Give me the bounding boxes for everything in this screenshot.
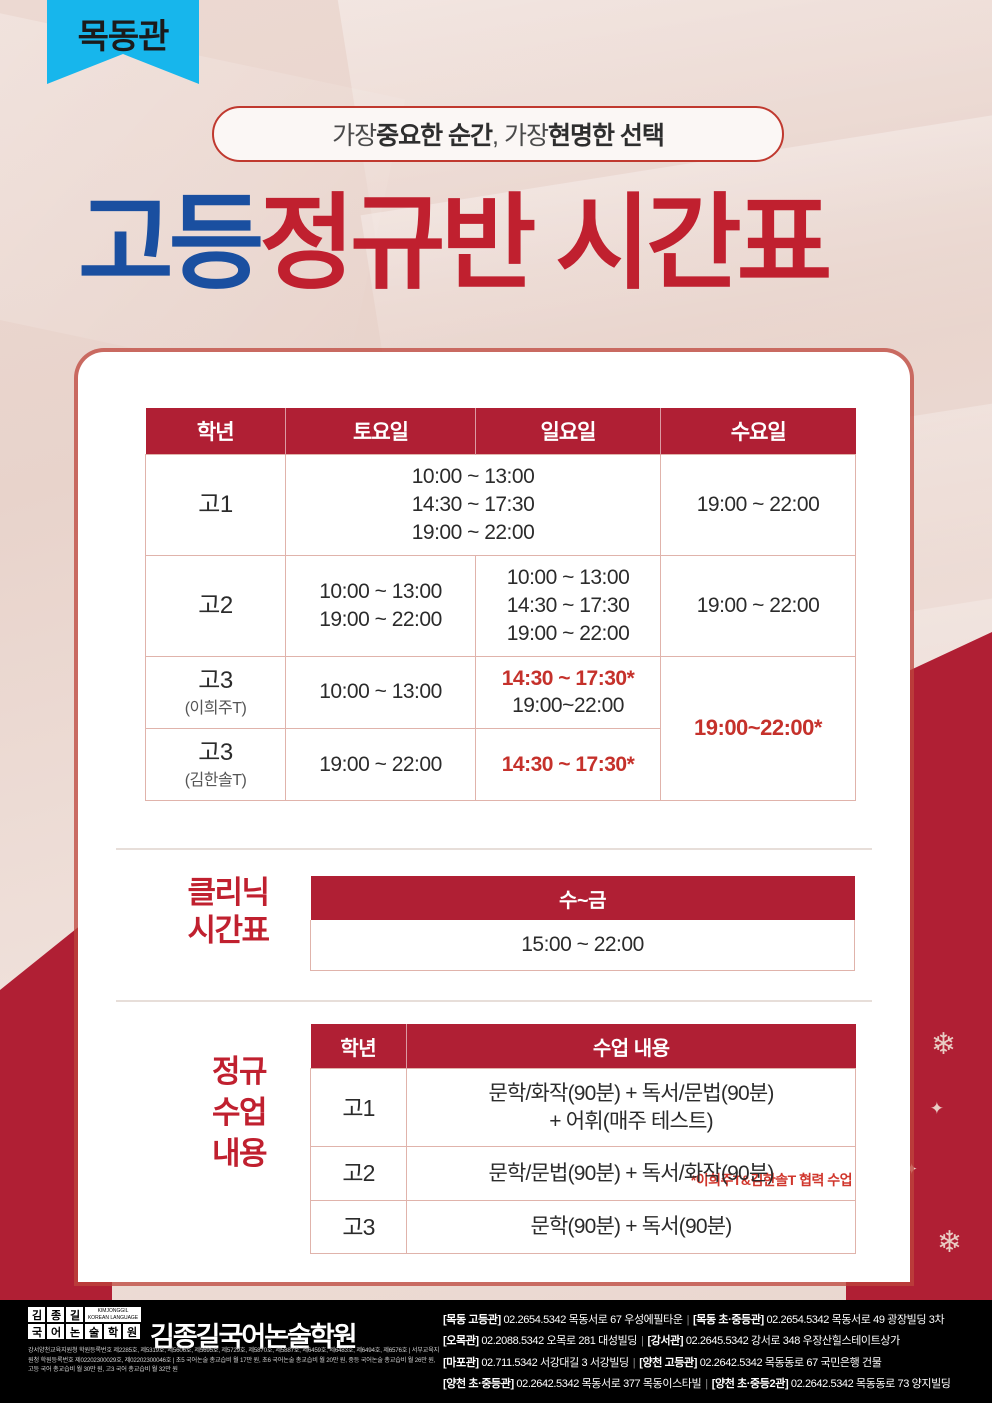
footer-contact-line: [마포관] 02.711.5342 서강대길 3 서강빌딩|[양천 고등관] 0… bbox=[443, 1353, 983, 1374]
cell-grade-go3-leeheeju: 고3 (이희주T) bbox=[146, 656, 286, 729]
footer-contact-separator: | bbox=[629, 1357, 639, 1369]
logo-mark-row-top: 김 종 길 KIMJONGGILKOREAN LANGUAGE bbox=[28, 1307, 141, 1322]
branch-ribbon-tag: 목동관 bbox=[47, 0, 199, 84]
curriculum-col-header-grade: 학년 bbox=[311, 1024, 407, 1069]
table-row: 고2 10:00 ~ 13:0019:00 ~ 22:00 10:00 ~ 13… bbox=[146, 555, 856, 656]
footer-branch-phone[interactable]: 02.2642.5342 bbox=[700, 1357, 765, 1369]
footer-branch-name: [양천 고등관] bbox=[639, 1357, 699, 1369]
page-title: 고등정규반 시간표 bbox=[78, 192, 827, 296]
cell-grade-go1: 고1 bbox=[146, 455, 286, 556]
timetable-header-row: 학년 토요일 일요일 수요일 bbox=[146, 408, 856, 455]
footer-branch-address: 강서로 348 우장산힐스테이트상가 bbox=[751, 1335, 900, 1347]
footer-branch-address: 목동서로 49 광장빌딩 3차 bbox=[832, 1314, 945, 1326]
logo-char: 종 bbox=[47, 1307, 64, 1322]
logo-mark-subtext: KIMJONGGILKOREAN LANGUAGE bbox=[85, 1307, 141, 1322]
table-row: 고2 문학/문법(90분) + 독서/화작(90분) bbox=[311, 1147, 856, 1200]
cell-go3a-sun-starred: 14:30 ~ 17:30* bbox=[480, 665, 656, 693]
curriculum-grade-go2: 고2 bbox=[311, 1147, 407, 1200]
cell-go2-sat: 10:00 ~ 13:0019:00 ~ 22:00 bbox=[286, 555, 476, 656]
footer-branch-name: [마포관] bbox=[443, 1357, 481, 1369]
cell-go2-sun: 10:00 ~ 13:0014:30 ~ 17:3019:00 ~ 22:00 bbox=[476, 555, 661, 656]
footer-contact-separator: | bbox=[637, 1335, 647, 1347]
footer-contact-line: [오목관] 02.2088.5342 오목로 281 대성빌딩|[강서관] 02… bbox=[443, 1331, 983, 1352]
footer-branch-phone[interactable]: 02.711.5342 bbox=[481, 1357, 540, 1369]
footer-branch-address: 오목로 281 대성빌딩 bbox=[547, 1335, 638, 1347]
table-row: 고3 문학(90분) + 독서(90분) bbox=[311, 1200, 856, 1253]
footer-contact-line: [목동 고등관] 02.2654.5342 목동서로 67 우성에필타운|[목동… bbox=[443, 1310, 983, 1331]
footer-branch-name: [양천 초·중등2관] bbox=[712, 1378, 791, 1390]
curriculum-content-go1: 문학/화작(90분) + 독서/문법(90분)+ 어휘(매주 테스트) bbox=[407, 1069, 856, 1147]
footer-branch-address: 목동동로 73 양지빌딩 bbox=[856, 1378, 951, 1390]
logo-char: 국 bbox=[28, 1324, 45, 1339]
cell-go3b-sat: 19:00 ~ 22:00 bbox=[286, 729, 476, 800]
clinic-label-line1: 클리닉 bbox=[148, 874, 308, 912]
clinic-timetable: 수~금 15:00 ~ 22:00 bbox=[310, 876, 855, 971]
cell-grade-go2: 고2 bbox=[146, 555, 286, 656]
logo-char: 길 bbox=[66, 1307, 83, 1322]
cell-grade-go3-kimhansol: 고3 (김한솔T) bbox=[146, 729, 286, 800]
curriculum-col-header-content: 수업 내용 bbox=[407, 1024, 856, 1069]
curriculum-label-line2: 수업 bbox=[164, 1093, 314, 1134]
tagline-bold-1: 중요한 순간 bbox=[376, 116, 492, 152]
poster-root: ❄ ✦ ✦ ❄ 목동관 가장 중요한 순간, 가장 현명한 선택 고등정규반 시… bbox=[0, 0, 992, 1403]
footer-branch-phone[interactable]: 02.2645.5342 bbox=[686, 1335, 751, 1347]
curriculum-label-line3: 내용 bbox=[164, 1134, 314, 1175]
footer-branch-address: 서강대길 3 서강빌딩 bbox=[540, 1357, 629, 1369]
grade-teacher: (이희주T) bbox=[150, 698, 281, 719]
tagline-text-2: , 가장 bbox=[492, 116, 548, 152]
footer-branch-phone[interactable]: 02.2654.5342 bbox=[766, 1314, 831, 1326]
footer-contacts: [목동 고등관] 02.2654.5342 목동서로 67 우성에필타운|[목동… bbox=[443, 1310, 983, 1396]
footer-branch-phone[interactable]: 02.2088.5342 bbox=[481, 1335, 546, 1347]
footer-branch-name: [오목관] bbox=[443, 1335, 481, 1347]
curriculum-grade-go3: 고3 bbox=[311, 1200, 407, 1253]
main-timetable: 학년 토요일 일요일 수요일 고1 10:00 ~ 13:0014:30 ~ 1… bbox=[145, 408, 856, 801]
footer-branch-name: [강서관] bbox=[647, 1335, 685, 1347]
page-title-red: 정규반 시간표 bbox=[259, 186, 827, 302]
clinic-label-line2: 시간표 bbox=[148, 912, 308, 950]
footer-branch-address: 목동서로 377 목동이스타빌 bbox=[582, 1378, 702, 1390]
footer-branch-phone[interactable]: 02.2642.5342 bbox=[791, 1378, 856, 1390]
footer-branch-phone[interactable]: 02.2654.5342 bbox=[503, 1314, 568, 1326]
logo-char: 어 bbox=[47, 1324, 64, 1339]
logo-char: 학 bbox=[104, 1324, 121, 1339]
footer-branch-address: 목동동로 67 국민은행 건물 bbox=[765, 1357, 882, 1369]
clinic-cell-time: 15:00 ~ 22:00 bbox=[311, 920, 855, 971]
logo-char: 원 bbox=[123, 1324, 140, 1339]
footer-branch-name: [목동 초·중등관] bbox=[693, 1314, 766, 1326]
curriculum-label-line1: 정규 bbox=[164, 1052, 314, 1093]
curriculum-content-go3: 문학(90분) + 독서(90분) bbox=[407, 1200, 856, 1253]
footer-branch-phone[interactable]: 02.2642.5342 bbox=[516, 1378, 581, 1390]
section-divider bbox=[116, 1000, 872, 1002]
tagline-text-1: 가장 bbox=[332, 116, 376, 152]
cell-go2-wed: 19:00 ~ 22:00 bbox=[661, 555, 856, 656]
curriculum-header-row: 학년 수업 내용 bbox=[311, 1024, 856, 1069]
clinic-header-row: 수~금 bbox=[311, 876, 855, 920]
cell-go3-wed-merged: 19:00~22:00* bbox=[661, 656, 856, 800]
cell-go3b-sun: 14:30 ~ 17:30* bbox=[476, 729, 661, 800]
curriculum-grade-go1: 고1 bbox=[311, 1069, 407, 1147]
grade-label: 고3 bbox=[198, 739, 232, 766]
col-header-sunday: 일요일 bbox=[476, 408, 661, 455]
footer-fineprint: 강서양천교육지원청 학원등록번호 제2285호, 제5319호, 제5606호,… bbox=[28, 1346, 440, 1375]
cell-go3a-sat: 10:00 ~ 13:00 bbox=[286, 656, 476, 729]
cell-go3a-sun-plain: 19:00~22:00 bbox=[480, 692, 656, 720]
logo-mark-row-bottom: 국 어 논 술 학 원 bbox=[28, 1324, 141, 1339]
logo-mark: 김 종 길 KIMJONGGILKOREAN LANGUAGE 국 어 논 술 … bbox=[28, 1307, 141, 1339]
footer-contact-separator: | bbox=[701, 1378, 711, 1390]
clinic-col-header-days: 수~금 bbox=[311, 876, 855, 920]
table-row: 고1 10:00 ~ 13:0014:30 ~ 17:3019:00 ~ 22:… bbox=[146, 455, 856, 556]
grade-teacher: (김한솔T) bbox=[150, 770, 281, 791]
curriculum-table: 학년 수업 내용 고1 문학/화작(90분) + 독서/문법(90분)+ 어휘(… bbox=[310, 1024, 856, 1254]
footer-bar: 김 종 길 KIMJONGGILKOREAN LANGUAGE 국 어 논 술 … bbox=[0, 1300, 992, 1403]
cell-go1-sat-sun: 10:00 ~ 13:0014:30 ~ 17:3019:00 ~ 22:00 bbox=[286, 455, 661, 556]
logo-char: 논 bbox=[66, 1324, 83, 1339]
footer-contact-line: [양천 초·중등관] 02.2642.5342 목동서로 377 목동이스타빌|… bbox=[443, 1374, 983, 1395]
col-header-wednesday: 수요일 bbox=[661, 408, 856, 455]
col-header-saturday: 토요일 bbox=[286, 408, 476, 455]
section-divider bbox=[116, 848, 872, 850]
footer-branch-address: 목동서로 67 우성에필타운 bbox=[569, 1314, 683, 1326]
footer-branch-name: [양천 초·중등관] bbox=[443, 1378, 516, 1390]
grade-label: 고3 bbox=[198, 667, 232, 694]
table-row: 15:00 ~ 22:00 bbox=[311, 920, 855, 971]
curriculum-content-go2: 문학/문법(90분) + 독서/화작(90분) bbox=[407, 1147, 856, 1200]
col-header-grade: 학년 bbox=[146, 408, 286, 455]
table-row: 고3 (이희주T) 10:00 ~ 13:00 14:30 ~ 17:30* 1… bbox=[146, 656, 856, 729]
logo-char: 술 bbox=[85, 1324, 102, 1339]
footer-branch-name: [목동 고등관] bbox=[443, 1314, 503, 1326]
logo-char: 김 bbox=[28, 1307, 45, 1322]
tagline-bold-2: 현명한 선택 bbox=[548, 116, 664, 152]
cell-go1-wed: 19:00 ~ 22:00 bbox=[661, 455, 856, 556]
footer-contact-separator: | bbox=[683, 1314, 693, 1326]
table-row: 고1 문학/화작(90분) + 독서/문법(90분)+ 어휘(매주 테스트) bbox=[311, 1069, 856, 1147]
content-card: 학년 토요일 일요일 수요일 고1 10:00 ~ 13:0014:30 ~ 1… bbox=[78, 352, 910, 1282]
curriculum-section-label: 정규 수업 내용 bbox=[164, 1052, 314, 1175]
branch-tag-label: 목동관 bbox=[78, 9, 169, 58]
page-title-blue: 고등 bbox=[78, 186, 259, 302]
tagline-pill: 가장 중요한 순간, 가장 현명한 선택 bbox=[212, 106, 784, 162]
cell-go3a-sun: 14:30 ~ 17:30* 19:00~22:00 bbox=[476, 656, 661, 729]
clinic-section-label: 클리닉 시간표 bbox=[148, 874, 308, 950]
